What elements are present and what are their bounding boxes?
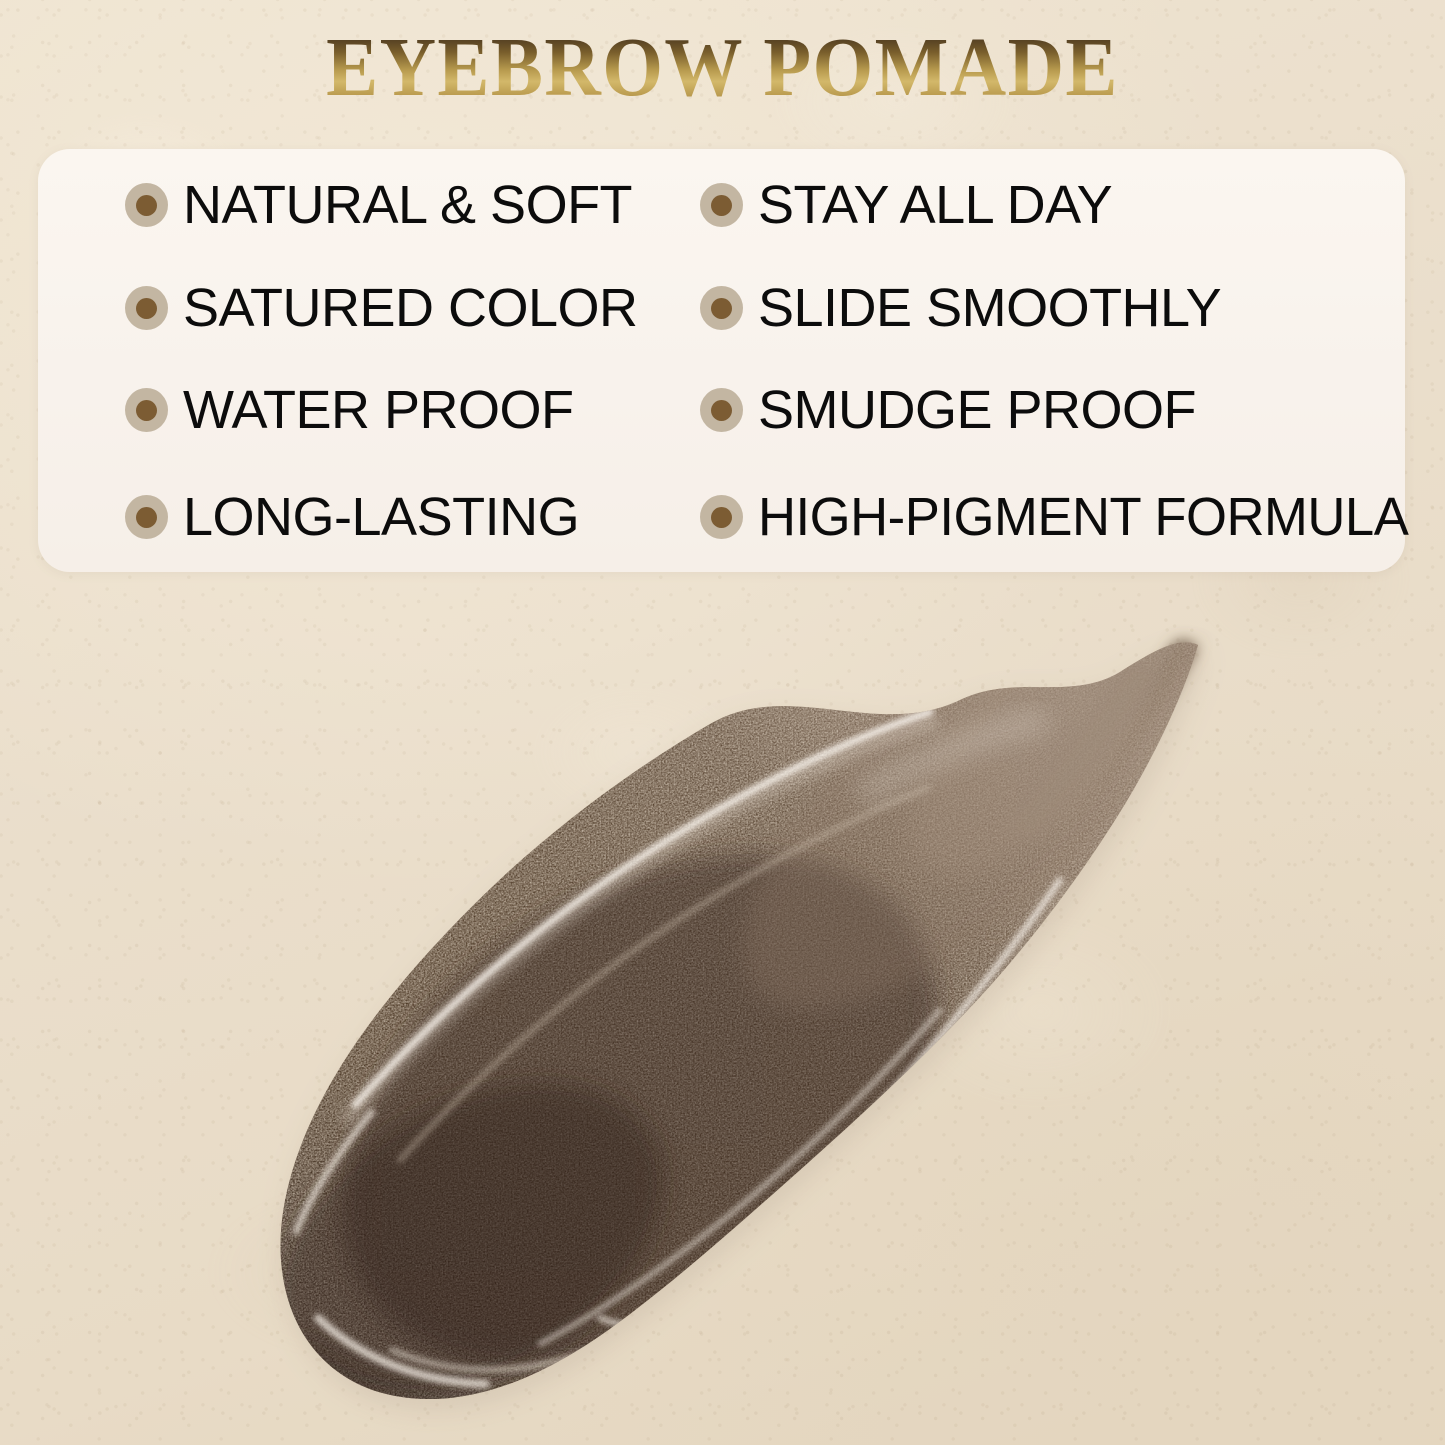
features-grid: NATURAL & SOFT SATURED COLOR WATER PROOF… (38, 149, 1405, 572)
bullet-dot-icon (700, 183, 743, 227)
feature-item-water-proof: WATER PROOF (125, 375, 573, 445)
feature-label: SMUDGE PROOF (758, 383, 1196, 437)
bullet-dot-icon (700, 388, 743, 432)
feature-item-high-pigment-formula: HIGH-PIGMENT FORMULA (700, 482, 1425, 552)
feature-item-stay-all-day: STAY ALL DAY (700, 170, 1112, 240)
feature-item-long-lasting: LONG-LASTING (125, 482, 579, 552)
feature-label: SATURED COLOR (183, 281, 638, 335)
bullet-dot-icon (125, 286, 168, 330)
feature-label: NATURAL & SOFT (183, 178, 632, 232)
bullet-dot-icon (700, 495, 743, 539)
feature-label: HIGH-PIGMENT FORMULA (758, 490, 1408, 544)
product-infographic: EYEBROW POMADE NATURAL & SOFT SATURED CO… (0, 0, 1445, 1445)
feature-item-satured-color: SATURED COLOR (125, 273, 638, 343)
features-card: NATURAL & SOFT SATURED COLOR WATER PROOF… (38, 149, 1405, 572)
bullet-dot-icon (125, 388, 168, 432)
feature-item-natural-soft: NATURAL & SOFT (125, 170, 632, 240)
feature-label: LONG-LASTING (183, 490, 579, 544)
feature-item-slide-smoothly: SLIDE SMOOTHLY (700, 273, 1221, 343)
page-title: EYEBROW POMADE (51, 20, 1395, 116)
feature-item-smudge-proof: SMUDGE PROOF (700, 375, 1196, 445)
bullet-dot-icon (125, 183, 168, 227)
feature-label: SLIDE SMOOTHLY (758, 281, 1221, 335)
feature-label: WATER PROOF (183, 383, 573, 437)
bullet-dot-icon (125, 495, 168, 539)
feature-label: STAY ALL DAY (758, 178, 1112, 232)
bullet-dot-icon (700, 286, 743, 330)
